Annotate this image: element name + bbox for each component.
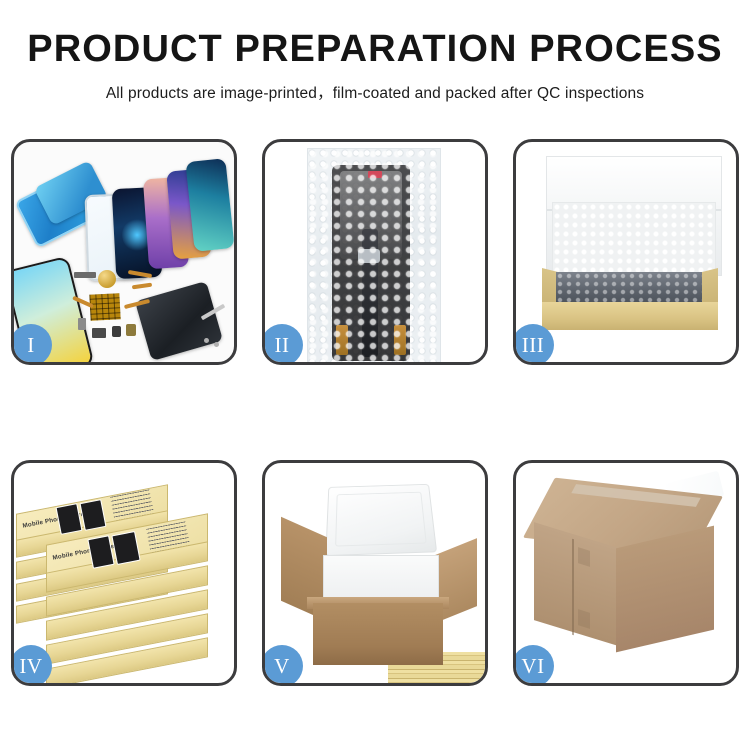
- phone-screen-teal: [185, 158, 234, 252]
- step-image-4: Mobile Phone Spare Parts Mobile Phone Sp…: [14, 463, 234, 683]
- sealed-carton-flap-mark-bottom: [578, 609, 590, 629]
- step-panel-6: VI: [513, 460, 739, 686]
- step-image-5: [265, 463, 485, 683]
- step-badge-1: I: [11, 324, 52, 365]
- spare-part-connector-grid: [89, 293, 120, 321]
- step-panel-1: I: [11, 139, 237, 365]
- flat-box-front-panel: [542, 302, 718, 330]
- spare-part-bracket-1: [74, 272, 96, 278]
- step-panel-4: Mobile Phone Spare Parts Mobile Phone Sp…: [11, 460, 237, 686]
- step-badge-3: III: [513, 324, 554, 365]
- sealed-carton-right-face: [616, 526, 714, 653]
- sealed-carton-seam-left: [572, 539, 574, 636]
- lcd-gold-contact-left: [336, 325, 348, 355]
- bubble-wrap-bag: [307, 148, 441, 362]
- page-subtitle: All products are image-printed，film-coat…: [0, 81, 750, 103]
- sealed-carton-flap-mark-top: [578, 547, 590, 567]
- spare-part-speaker: [126, 324, 136, 336]
- page-title: PRODUCT PREPARATION PROCESS: [0, 30, 750, 70]
- step-image-2: [265, 142, 485, 362]
- step-image-6: [516, 463, 736, 683]
- lcd-red-tape-label: [368, 171, 382, 178]
- lcd-gold-contact-right: [394, 325, 406, 355]
- step-badge-4: IV: [11, 645, 52, 686]
- step-panel-3: III: [513, 139, 739, 365]
- step-panel-5: V: [262, 460, 488, 686]
- lcd-connector: [358, 249, 380, 263]
- spare-part-gold-coil: [98, 270, 116, 288]
- process-step-grid: I II III: [11, 139, 739, 686]
- spare-part-camera-module: [112, 326, 121, 337]
- step-badge-2: II: [262, 324, 303, 365]
- packed-screens-bubble-wrapped: [556, 272, 702, 304]
- step-image-1: [14, 142, 234, 362]
- step-badge-6: VI: [513, 645, 554, 686]
- phone-back-housing: [135, 281, 223, 361]
- step-panel-2: II: [262, 139, 488, 365]
- spare-part-flex-cable-2: [132, 283, 152, 290]
- spare-part-bracket-3: [92, 328, 106, 338]
- flat-box-foam-sheet: [552, 202, 716, 278]
- carton-front-panel: [313, 603, 443, 665]
- step-badge-5: V: [262, 645, 303, 686]
- step-image-3: [516, 142, 736, 362]
- spare-part-screw-1: [204, 338, 209, 343]
- spare-part-bracket-2: [78, 318, 86, 330]
- page-header: PRODUCT PREPARATION PROCESS All products…: [0, 0, 750, 103]
- spare-part-screw-2: [214, 342, 219, 347]
- foam-lid-open: [325, 484, 437, 556]
